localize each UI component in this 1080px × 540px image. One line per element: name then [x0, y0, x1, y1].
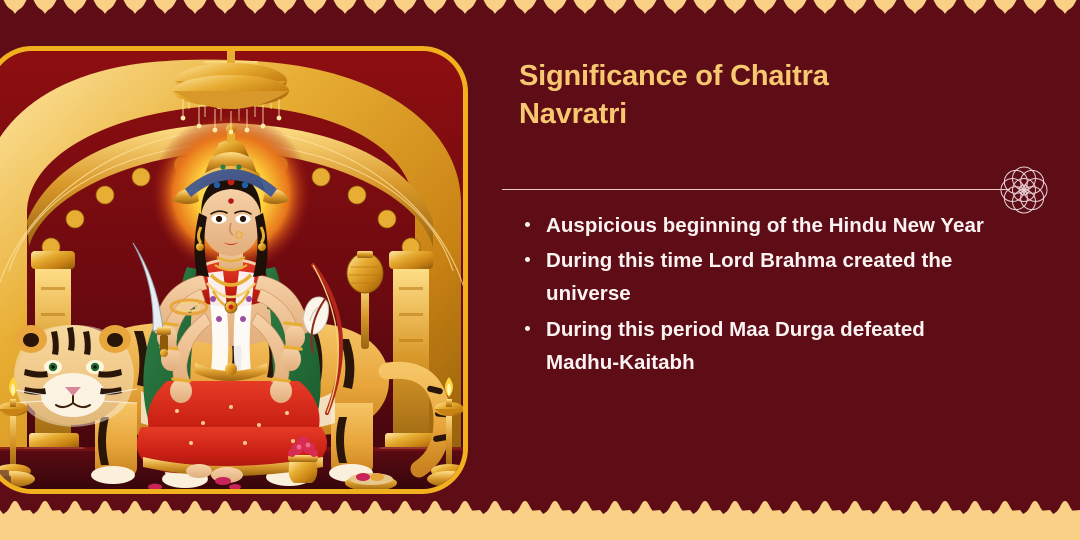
significance-bullet-list: Auspicious beginning of the Hindu New Ye…	[519, 209, 989, 381]
horizontal-divider	[502, 189, 1010, 190]
list-item-text: Auspicious beginning of the Hindu New Ye…	[546, 214, 984, 237]
top-decorative-border	[0, 0, 1080, 42]
list-item-text: During this time Lord Brahma created the…	[546, 249, 952, 305]
durga-illustration	[0, 51, 468, 494]
bullet-dot-icon	[525, 257, 530, 262]
bullet-dot-icon	[525, 326, 530, 331]
list-item-text: During this period Maa Durga defeated Ma…	[546, 318, 925, 374]
bullet-dot-icon	[525, 222, 530, 227]
list-item: During this period Maa Durga defeated Ma…	[519, 313, 989, 379]
page-title: Significance of Chaitra Navratri	[519, 58, 919, 133]
content-column: Significance of Chaitra Navratri	[519, 58, 1039, 133]
slide-canvas: Significance of Chaitra Navratri	[0, 0, 1080, 540]
list-item: Auspicious beginning of the Hindu New Ye…	[519, 209, 989, 242]
durga-illustration-panel	[0, 46, 468, 494]
bottom-decorative-border	[0, 496, 1080, 540]
mandala-rosette-icon	[998, 164, 1050, 221]
list-item: During this time Lord Brahma created the…	[519, 244, 989, 310]
